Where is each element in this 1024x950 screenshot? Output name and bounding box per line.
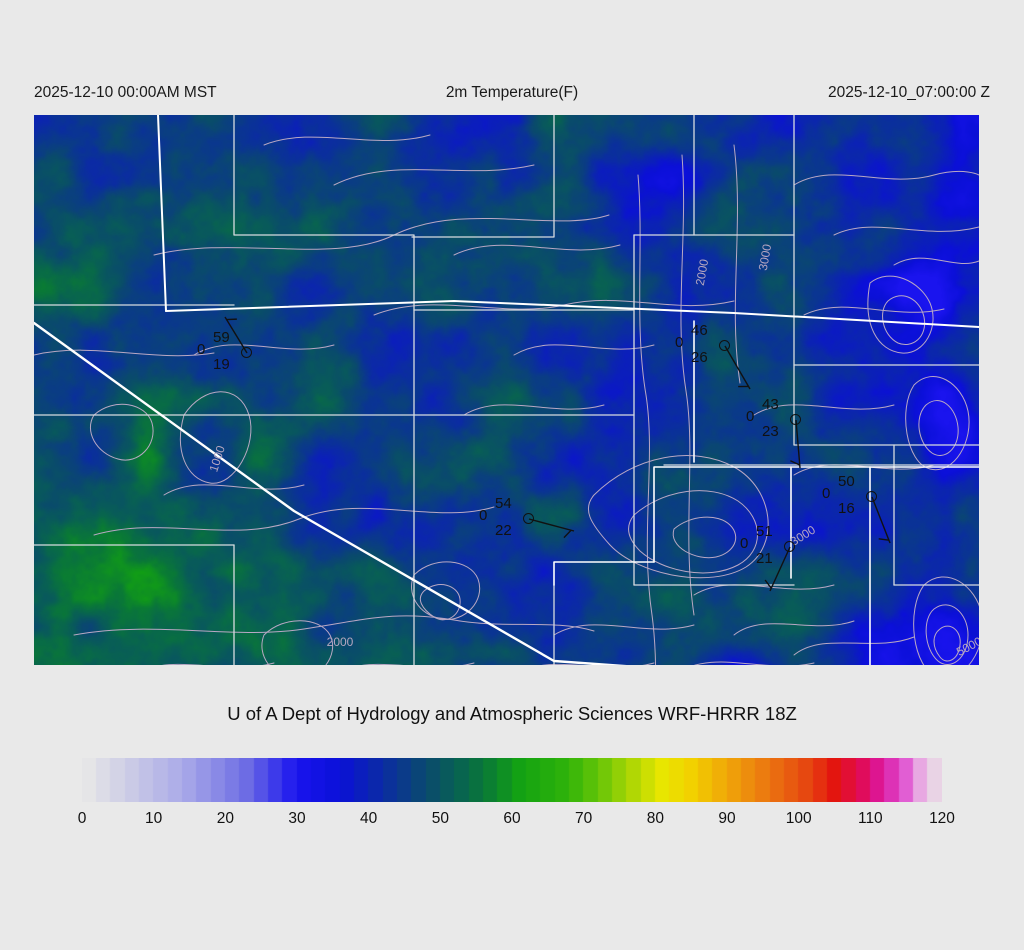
station-dewpoint: 22 <box>495 522 512 539</box>
station-temperature: 43 <box>762 396 779 413</box>
station-dewpoint: 21 <box>756 550 773 567</box>
colorbar-tick-40: 40 <box>360 810 377 828</box>
station-circle-icon <box>790 414 801 425</box>
figure-header: 2025-12-10 00:00AM MST 2m Temperature(F)… <box>0 84 1024 110</box>
colorbar-tick-80: 80 <box>647 810 664 828</box>
weather-map-figure: 2025-12-10 00:00AM MST 2m Temperature(F)… <box>0 0 1024 950</box>
station-dewpoint: 23 <box>762 423 779 440</box>
station-temperature: 46 <box>691 322 708 339</box>
colorbar-tick-120: 120 <box>929 810 955 828</box>
station-temperature: 50 <box>838 473 855 490</box>
station-circle-icon <box>719 340 730 351</box>
station-pressure: 0 <box>822 485 830 502</box>
colorbar-tick-10: 10 <box>145 810 162 828</box>
station-dewpoint: 26 <box>691 349 708 366</box>
station-circle-icon <box>866 491 877 502</box>
station-circle-icon <box>523 513 534 524</box>
station-pressure: 0 <box>197 341 205 358</box>
colorbar-tick-50: 50 <box>432 810 449 828</box>
station-pressure: 0 <box>479 507 487 524</box>
station-pressure: 0 <box>746 408 754 425</box>
station-temperature: 59 <box>213 329 230 346</box>
station-dewpoint: 19 <box>213 356 230 373</box>
colorbar <box>82 758 942 802</box>
colorbar-tick-0: 0 <box>78 810 87 828</box>
colorbar-tick-20: 20 <box>217 810 234 828</box>
station-temperature: 51 <box>756 523 773 540</box>
colorbar-tick-60: 60 <box>503 810 520 828</box>
colorbar-tick-30: 30 <box>288 810 305 828</box>
valid-time-utc-label: 2025-12-10_07:00:00 Z <box>828 84 990 102</box>
station-temperature: 54 <box>495 495 512 512</box>
station-plot-layer: 591904626043230542205016051210 <box>34 115 979 665</box>
station-dewpoint: 16 <box>838 500 855 517</box>
colorbar-tick-90: 90 <box>718 810 735 828</box>
colorbar-tick-70: 70 <box>575 810 592 828</box>
station-pressure: 0 <box>740 535 748 552</box>
station-circle-icon <box>241 347 252 358</box>
station-circle-icon <box>784 541 795 552</box>
colorbar-tick-100: 100 <box>786 810 812 828</box>
colorbar-tick-labels: 0102030405060708090100110120 <box>82 810 942 834</box>
map-panel[interactable]: 100020002000300030003000400040005000 591… <box>34 115 979 665</box>
colorbar-gradient <box>82 758 942 802</box>
station-pressure: 0 <box>675 334 683 351</box>
colorbar-tick-110: 110 <box>858 810 883 828</box>
figure-caption: U of A Dept of Hydrology and Atmospheric… <box>0 703 1024 725</box>
